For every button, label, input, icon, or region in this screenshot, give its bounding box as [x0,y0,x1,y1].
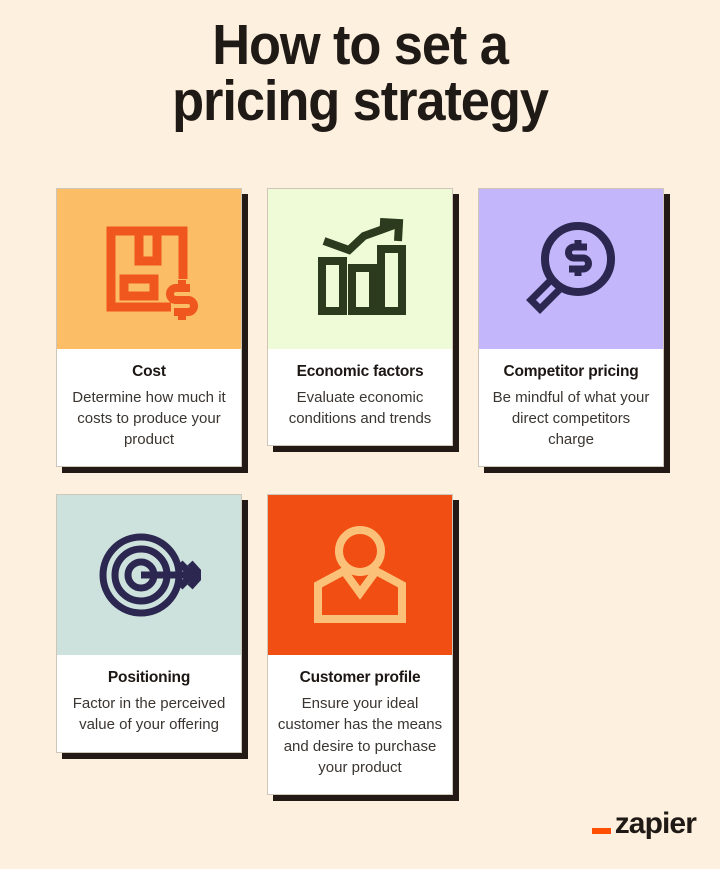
target-bullseye-arrow-icon [97,523,201,627]
card-positioning-header [57,495,241,655]
zapier-logo-text: zapier [615,809,696,839]
card-row-top: Cost Determine how much it costs to prod… [56,188,672,467]
bar-chart-trend-up-icon [308,217,412,321]
page-title: How to set a pricing strategy [29,18,691,130]
zapier-dash-icon [592,828,611,834]
card-competitor-pricing-description: Be mindful of what your direct competito… [488,387,654,451]
card-economic-factors-header [268,189,452,349]
card-cost-body: Cost Determine how much it costs to prod… [57,349,241,466]
card-positioning-title: Positioning [66,669,232,688]
card-economic-factors-body: Economic factors Evaluate economic condi… [268,349,452,445]
card-customer-profile-description: Ensure your ideal customer has the means… [277,693,443,778]
card-economic-factors-title: Economic factors [277,363,443,382]
magnifying-glass-dollar-icon [519,217,623,321]
card-positioning-body: Positioning Factor in the perceived valu… [57,655,241,751]
card-grid: Cost Determine how much it costs to prod… [56,188,672,795]
person-profile-icon [308,523,412,627]
card-competitor-pricing[interactable]: Competitor pricing Be mindful of what yo… [478,188,664,467]
card-cost-title: Cost [66,363,232,382]
package-box-dollar-icon [97,217,201,321]
card-competitor-pricing-title: Competitor pricing [488,363,654,382]
card-competitor-pricing-header [479,189,663,349]
title-container: How to set a pricing strategy [0,0,720,130]
card-positioning-description: Factor in the perceived value of your of… [66,693,232,736]
card-positioning[interactable]: Positioning Factor in the perceived valu… [56,494,242,752]
infographic-page: How to set a pricing strategy [0,0,720,869]
zapier-logo[interactable]: zapier [592,809,696,839]
card-cost-description: Determine how much it costs to produce y… [66,387,232,451]
card-customer-profile-header [268,495,452,655]
card-economic-factors[interactable]: Economic factors Evaluate economic condi… [267,188,453,446]
card-customer-profile-body: Customer profile Ensure your ideal custo… [268,655,452,794]
card-economic-factors-description: Evaluate economic conditions and trends [277,387,443,430]
card-competitor-pricing-body: Competitor pricing Be mindful of what yo… [479,349,663,466]
card-customer-profile[interactable]: Customer profile Ensure your ideal custo… [267,494,453,795]
card-cost[interactable]: Cost Determine how much it costs to prod… [56,188,242,467]
card-cost-header [57,189,241,349]
card-row-bottom: Positioning Factor in the perceived valu… [56,494,672,795]
card-customer-profile-title: Customer profile [277,669,443,688]
